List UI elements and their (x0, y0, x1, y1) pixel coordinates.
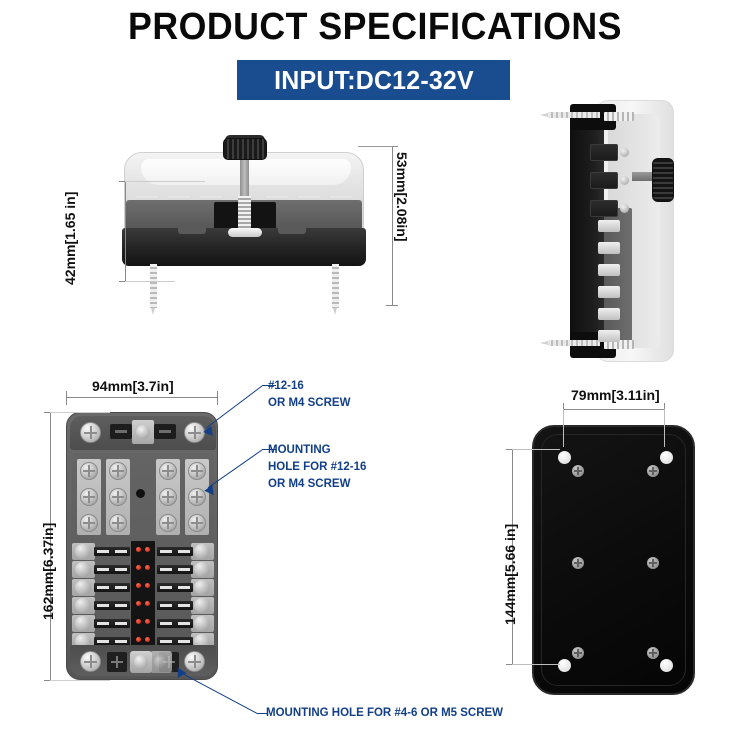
led-indicator (145, 565, 150, 570)
front-profile-view (118, 152, 370, 312)
blade-fuse (157, 601, 193, 610)
blade-fuse (157, 565, 193, 574)
dimension-tick (217, 391, 218, 405)
mounting-hole (660, 659, 673, 672)
plate-screw (647, 647, 659, 659)
label-slot (110, 424, 132, 439)
back-plate-view (532, 425, 695, 695)
blade-fuse (157, 547, 193, 556)
callout-mounting-hole-m5: MOUNTING HOLE FOR #4-6 OR M5 SCREW (266, 705, 503, 722)
blade-fuse (157, 619, 193, 628)
input-post (132, 420, 154, 444)
callout-leader-line (182, 673, 259, 715)
led-indicator (136, 637, 141, 642)
input-voltage-badge: INPUT:DC12-32V (237, 60, 510, 100)
knob-shaft (240, 156, 249, 200)
fuse-terminal-pad (191, 543, 214, 560)
fuse-terminal-pad (191, 615, 214, 632)
base-notch (178, 224, 206, 234)
led-indicator (145, 583, 150, 588)
callout-line: MOUNTING (268, 442, 366, 459)
dimension-label-height-front: 162mm[6.37in] (40, 523, 56, 620)
callout-line: HOLE FOR #12-16 (268, 459, 366, 476)
blade-fuse (94, 583, 130, 592)
callout-line: #12-16 (268, 378, 350, 395)
led-indicator (145, 619, 150, 624)
extension-line (50, 412, 110, 413)
terminal-screw (80, 514, 98, 532)
led-indicator (145, 637, 150, 642)
extension-line (125, 281, 175, 282)
extension-line (358, 146, 392, 147)
fuse-lug (598, 330, 620, 342)
blade-fuse (94, 601, 130, 610)
terminal-screw (109, 514, 127, 532)
dimension-label-height-back: 144mm[5.66 in] (502, 524, 518, 625)
center-hole (136, 489, 145, 498)
fuse-terminal-pad (191, 579, 214, 596)
callout-line: OR M4 SCREW (268, 476, 366, 493)
corner-mounting-screw (80, 422, 101, 443)
dimension-line-width-front (66, 397, 218, 398)
terminal-screw (620, 148, 629, 157)
terminal-strip (77, 459, 101, 535)
blade-fuse (94, 565, 130, 574)
blade-fuse (157, 583, 193, 592)
plate-screw (572, 557, 584, 569)
mounting-hole (660, 451, 673, 464)
mounting-screw (150, 264, 157, 308)
callout-line: MOUNTING HOLE FOR #4-6 OR M5 SCREW (266, 705, 503, 722)
corner-mounting-screw (184, 651, 205, 672)
fuse-terminal-pad (72, 579, 95, 596)
dimension-label-height-right: 53mm[2.08in] (394, 152, 410, 241)
corner-mounting-screw (184, 422, 205, 443)
mounting-hole (558, 659, 571, 672)
callout-mounting-hole-m4: MOUNTING HOLE FOR #12-16 OR M4 SCREW (268, 442, 366, 493)
thumb-knob (652, 158, 674, 202)
led-indicator (136, 565, 141, 570)
input-voltage-label: INPUT:DC12-32V (274, 65, 474, 96)
plate-inset-border (541, 434, 686, 686)
fuse-terminal-pad (72, 615, 95, 632)
output-terminal (590, 172, 618, 189)
fuse-lug (598, 308, 620, 320)
label-slot (154, 424, 176, 439)
extension-line (512, 449, 560, 450)
screw-pad (604, 112, 634, 121)
dimension-line-height-right (392, 146, 393, 305)
base-notch (278, 224, 306, 234)
extension-line (563, 409, 564, 447)
mounting-screw (548, 112, 600, 118)
dimension-tick (66, 391, 67, 405)
page-title: PRODUCT SPECIFICATIONS (23, 6, 728, 49)
threaded-screw (238, 196, 251, 230)
callout-screw-spec: #12-16 OR M4 SCREW (268, 378, 350, 412)
terminal-screw (159, 514, 177, 532)
dimension-line-height-left (125, 181, 126, 281)
mounting-hole (558, 451, 571, 464)
terminal-screw (159, 462, 177, 480)
terminal-strip (156, 459, 180, 535)
led-indicator (145, 547, 150, 552)
thumb-knob (223, 138, 267, 160)
fuse-lug (598, 286, 620, 298)
front-face-view (66, 412, 218, 680)
terminal-screw (80, 488, 98, 506)
ground-post (130, 651, 152, 673)
dimension-label-width-front: 94mm[3.7in] (92, 378, 174, 394)
terminal-screw (80, 462, 98, 480)
side-view (556, 100, 706, 362)
plate-screw (572, 647, 584, 659)
terminal-screw (188, 514, 206, 532)
output-terminal (590, 200, 618, 217)
ground-post (150, 651, 172, 673)
fuse-terminal-pad (191, 561, 214, 578)
extension-line (664, 409, 665, 447)
extension-line (512, 664, 560, 665)
fuse-terminal-pad (191, 597, 214, 614)
positive-terminal-mark (107, 652, 127, 672)
terminal-strip (185, 459, 209, 535)
blade-fuse (94, 547, 130, 556)
terminal-screw (188, 462, 206, 480)
terminal-screw (109, 488, 127, 506)
extension-line (50, 680, 110, 681)
fuse-terminal-pad (72, 543, 95, 560)
led-indicator (136, 547, 141, 552)
screw-washer (228, 228, 262, 237)
specification-sheet: PRODUCT SPECIFICATIONS INPUT:DC12-32V (0, 0, 750, 750)
extension-line (125, 181, 205, 182)
led-indicator (145, 601, 150, 606)
fuse-terminal-pad (72, 561, 95, 578)
dimension-label-width-back: 79mm[3.11in] (571, 387, 660, 403)
plate-screw (572, 465, 584, 477)
dimension-label-height-left: 42mm[1.65 in] (62, 192, 78, 285)
fuse-lug (598, 220, 620, 232)
callout-leader-line (206, 385, 263, 428)
blade-fuse (94, 619, 130, 628)
terminal-screw (620, 176, 629, 185)
mounting-screw (548, 340, 600, 346)
plate-screw (647, 557, 659, 569)
led-indicator (136, 601, 141, 606)
led-indicator (136, 583, 141, 588)
dimension-tick (386, 305, 398, 306)
output-terminal (590, 144, 618, 161)
terminal-screw (159, 488, 177, 506)
mounting-screw (332, 264, 339, 308)
led-indicator-column (131, 541, 155, 655)
terminal-screw (109, 462, 127, 480)
callout-line: OR M4 SCREW (268, 395, 350, 412)
terminal-screw (620, 204, 629, 213)
terminal-strip (106, 459, 130, 535)
fuse-lug (598, 264, 620, 276)
fuse-terminal-pad (72, 597, 95, 614)
plate-screw (647, 465, 659, 477)
corner-mounting-screw (80, 651, 101, 672)
fuse-lug (598, 242, 620, 254)
led-indicator (136, 619, 141, 624)
fuse-well (72, 541, 214, 655)
dimension-line-width-back (563, 409, 665, 410)
